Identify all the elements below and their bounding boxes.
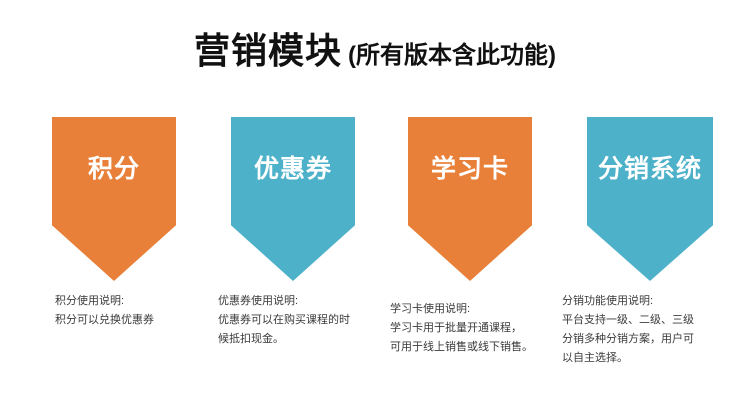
caption-line: 积分可以兑换优惠券 [55,311,154,330]
caption-line: 以自主选择。 [562,349,694,368]
module-banner-label: 优惠券 [254,157,332,182]
module-banner-label: 分销系统 [598,157,702,182]
caption-line: 候抵扣现金。 [218,330,350,349]
module-banner-label: 学习卡 [431,157,509,182]
module-banner-label: 积分 [88,157,140,182]
caption-line: 积分使用说明: [55,292,154,311]
page-title: 营销模块(所有版本含此功能) [0,22,750,74]
caption-line: 分销功能使用说明: [562,292,694,311]
module-banner-points[interactable]: 积分 [52,117,176,281]
caption-line: 学习卡用于批量开通课程， [390,319,533,338]
module-caption-study-card: 学习卡使用说明:学习卡用于批量开通课程，可用于线上销售或线下销售。 [390,300,533,357]
caption-line: 分销多种分销方案，用户可 [562,330,694,349]
caption-line: 平台支持一级、二级、三级 [562,311,694,330]
module-caption-distribution: 分销功能使用说明:平台支持一级、二级、三级分销多种分销方案，用户可以自主选择。 [562,292,694,368]
module-banner-distribution[interactable]: 分销系统 [587,117,713,281]
caption-line: 优惠券可以在购买课程的时 [218,311,350,330]
caption-line: 学习卡使用说明: [390,300,533,319]
slide-canvas: 营销模块(所有版本含此功能) 积分 优惠券 学习卡 分销系统 积分使用说明:积分… [0,0,750,403]
module-banner-coupon[interactable]: 优惠券 [231,117,355,281]
page-title-main: 营销模块 [194,30,342,71]
module-caption-coupon: 优惠券使用说明:优惠券可以在购买课程的时候抵扣现金。 [218,292,350,349]
caption-line: 可用于线上销售或线下销售。 [390,338,533,357]
module-banner-study-card[interactable]: 学习卡 [408,117,532,281]
module-caption-points: 积分使用说明:积分可以兑换优惠券 [55,292,154,330]
caption-line: 优惠券使用说明: [218,292,350,311]
page-title-subtitle: (所有版本含此功能) [348,42,556,69]
